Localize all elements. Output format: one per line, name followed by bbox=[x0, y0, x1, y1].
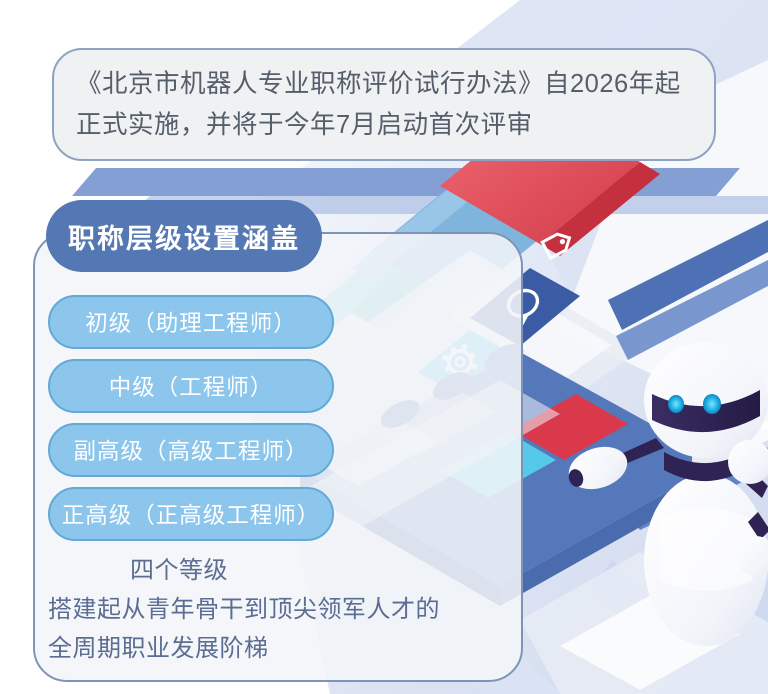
level-pill-associate-senior-label: 副高级（高级工程师） bbox=[73, 434, 308, 466]
footer-line-3: 全周期职业发展阶梯 bbox=[48, 629, 488, 668]
footer-paragraph: 四个等级 搭建起从青年骨干到顶尖领军人才的 全周期职业发展阶梯 bbox=[48, 551, 488, 668]
level-pill-full-senior: 正高级（正高级工程师） bbox=[48, 487, 334, 541]
header-line-2: 正式实施，并将于今年7月启动首次评审 bbox=[76, 105, 692, 146]
level-pill-junior: 初级（助理工程师） bbox=[48, 295, 334, 349]
footer-line-1: 四个等级 bbox=[48, 551, 488, 590]
section-badge-label: 职称层级设置涵盖 bbox=[68, 217, 300, 256]
level-pill-intermediate-label: 中级（工程师） bbox=[109, 370, 274, 402]
section-badge: 职称层级设置涵盖 bbox=[46, 200, 322, 272]
level-pill-full-senior-label: 正高级（正高级工程师） bbox=[62, 498, 321, 530]
level-pill-associate-senior: 副高级（高级工程师） bbox=[48, 423, 334, 477]
level-pill-junior-label: 初级（助理工程师） bbox=[85, 306, 297, 338]
infographic-canvas: 《北京市机器人专业职称评价试行办法》自2026年起 正式实施，并将于今年7月启动… bbox=[0, 0, 768, 694]
footer-line-2: 搭建起从青年骨干到顶尖领军人才的 bbox=[48, 590, 488, 629]
level-pill-intermediate: 中级（工程师） bbox=[48, 359, 334, 413]
header-callout-card: 《北京市机器人专业职称评价试行办法》自2026年起 正式实施，并将于今年7月启动… bbox=[52, 48, 716, 161]
header-line-1: 《北京市机器人专业职称评价试行办法》自2026年起 bbox=[76, 64, 692, 105]
